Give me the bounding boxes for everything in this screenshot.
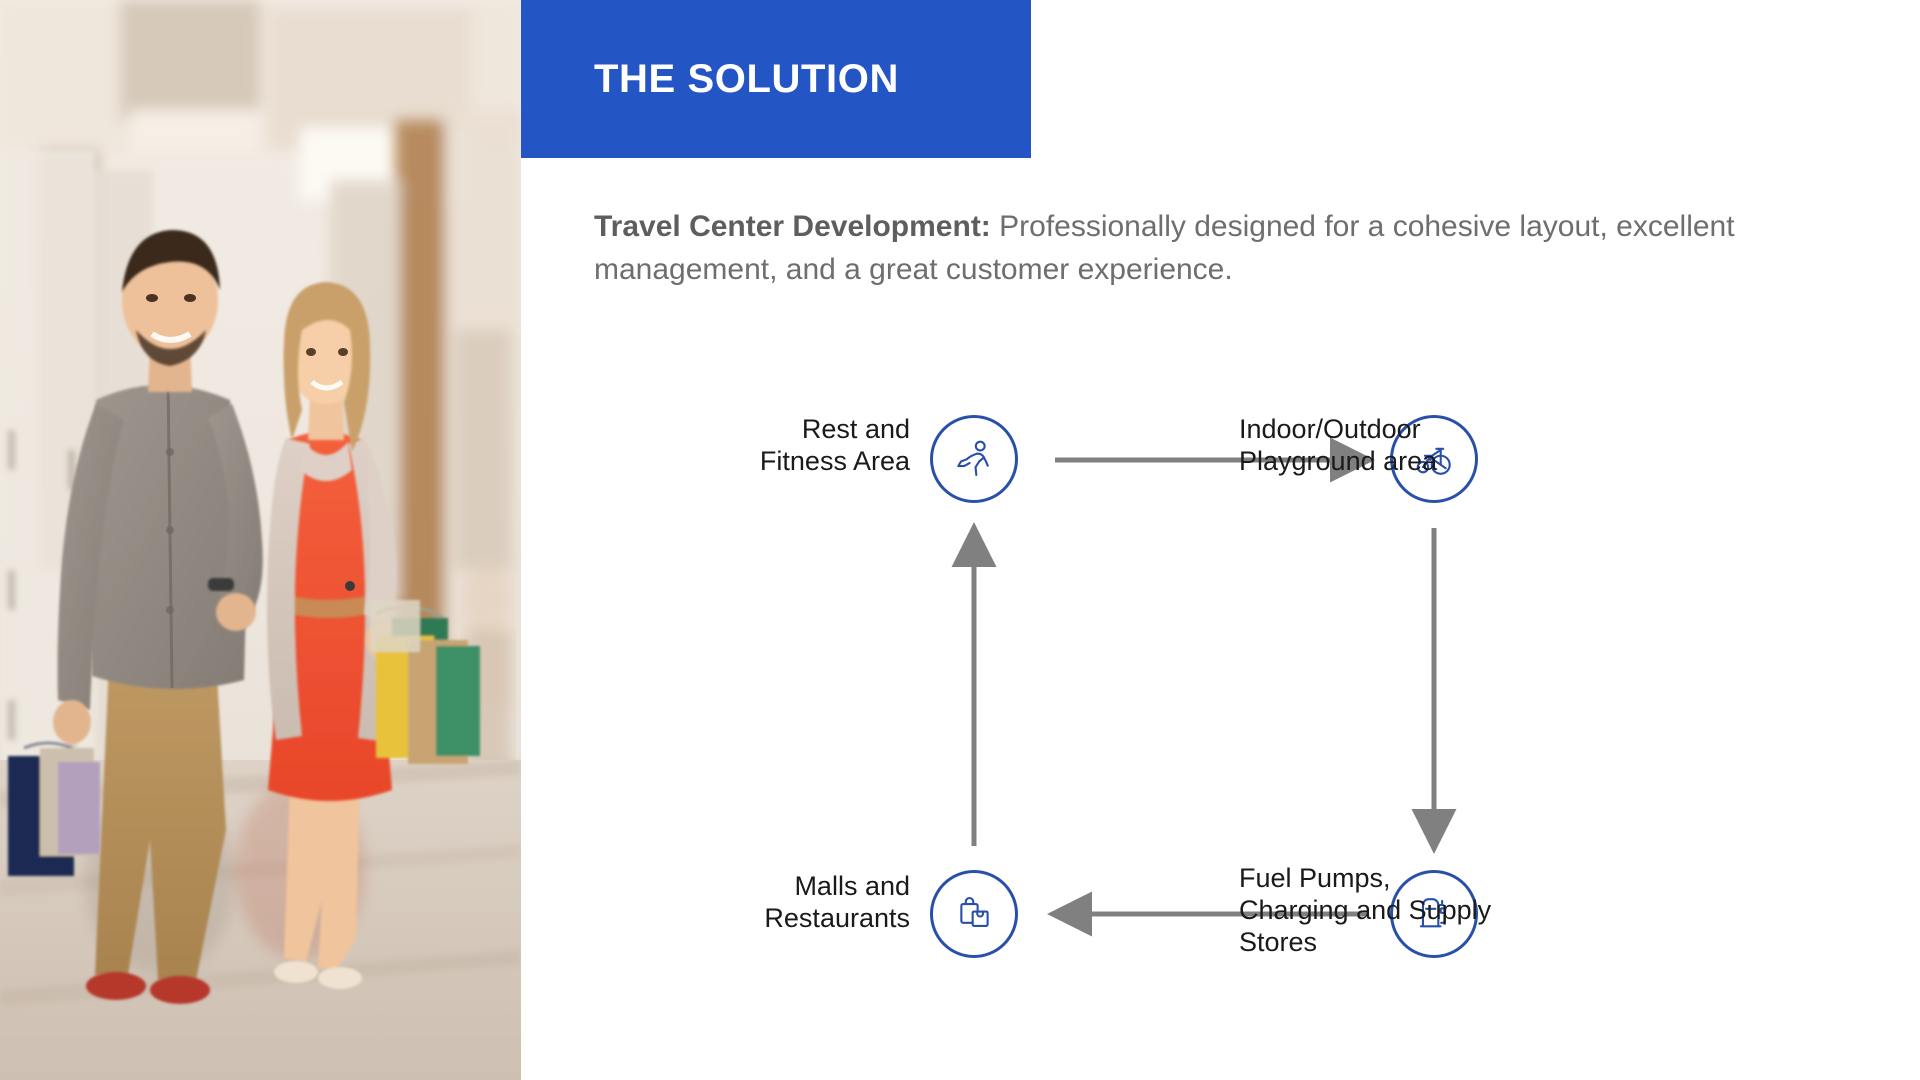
label-playground: Indoor/Outdoor Playground area	[1239, 413, 1569, 477]
body-paragraph: Travel Center Development: Professionall…	[594, 205, 1814, 291]
cycle-arrows	[521, 290, 1920, 1080]
label-rest-fitness: Rest and Fitness Area	[590, 413, 910, 477]
label-line-1: Indoor/Outdoor	[1239, 413, 1569, 445]
label-line-2: Playground area	[1239, 445, 1569, 477]
label-line-1: Rest and	[590, 413, 910, 445]
label-fuel-pumps: Fuel Pumps, Charging and Supply Stores	[1239, 862, 1569, 958]
node-rest-fitness[interactable]	[930, 415, 1018, 503]
title-banner: THE SOLUTION	[521, 0, 1031, 158]
body-lead-text: Travel Center Development:	[594, 210, 991, 243]
label-malls-restaurants: Malls and Restaurants	[590, 870, 910, 934]
label-line-2: Restaurants	[590, 902, 910, 934]
label-line-2: Charging and Supply	[1239, 894, 1569, 926]
label-line-2: Fitness Area	[590, 445, 910, 477]
hero-photo	[0, 0, 521, 1080]
solution-cycle-diagram: Rest and Fitness Area Indoor/Outdoor	[521, 290, 1920, 1080]
label-line-1: Fuel Pumps,	[1239, 862, 1569, 894]
running-person-icon	[951, 436, 997, 482]
shopping-bags-icon	[951, 891, 997, 937]
mall-couple-illustration	[0, 0, 521, 1080]
label-line-1: Malls and	[590, 870, 910, 902]
node-malls-restaurants[interactable]	[930, 870, 1018, 958]
slide-content: THE SOLUTION Travel Center Development: …	[521, 0, 1920, 1080]
label-line-3: Stores	[1239, 926, 1569, 958]
page-title: THE SOLUTION	[521, 57, 899, 102]
